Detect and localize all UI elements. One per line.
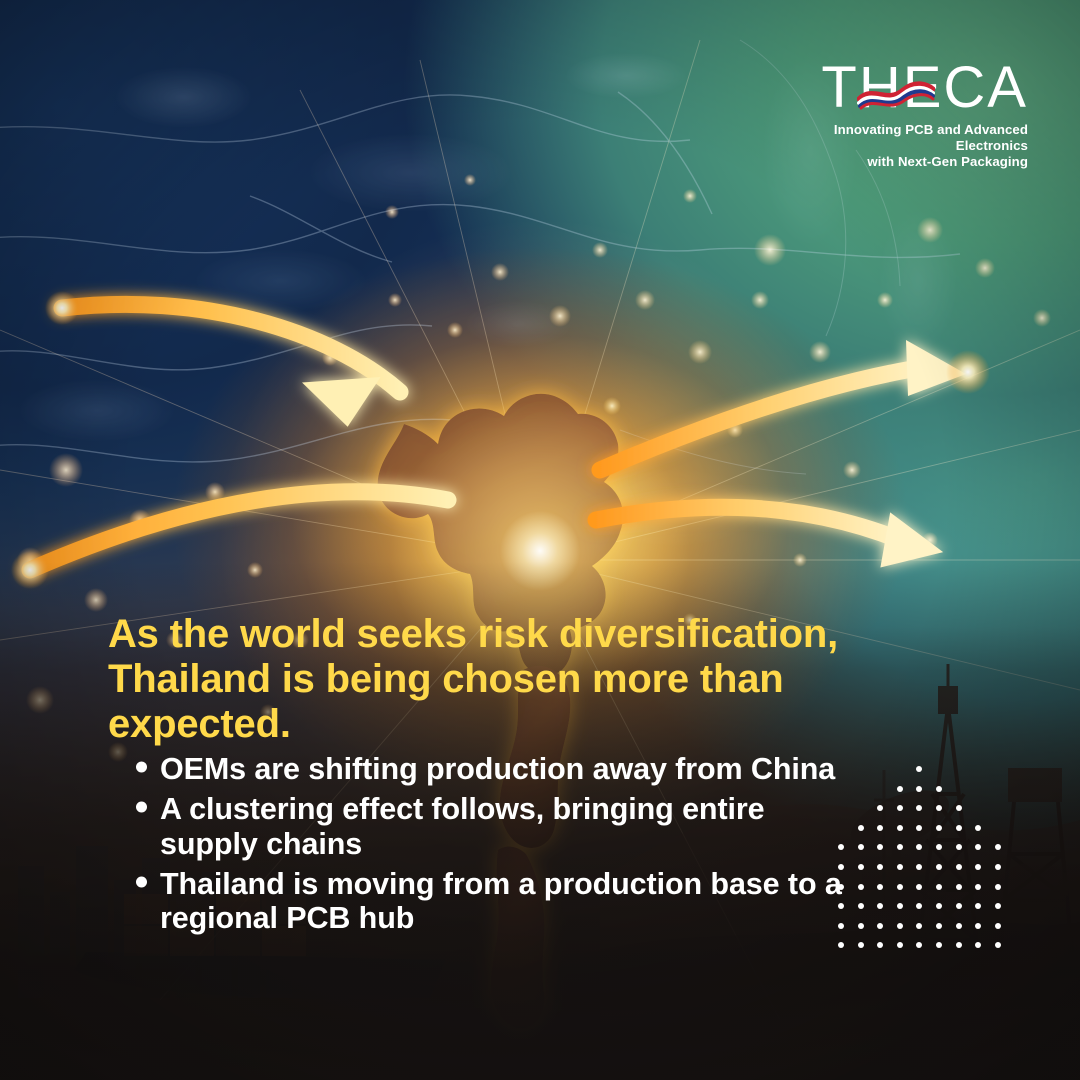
list-item: OEMs are shifting production away from C… (108, 752, 848, 787)
social-post-card: THECA Innovating PCB and Advanced Electr… (0, 0, 1080, 1080)
copy-block: As the world seeks risk diversification,… (108, 612, 848, 941)
logo-wordmark: THECA (821, 55, 1028, 120)
list-item: Thailand is moving from a production bas… (108, 867, 848, 937)
bullet-icon (136, 876, 147, 887)
decorative-dot-grid (838, 766, 1028, 956)
brand-logo[interactable]: THECA Innovating PCB and Advanced Electr… (760, 60, 1028, 170)
page-title: As the world seeks risk diversification,… (108, 612, 848, 746)
brand-tagline: Innovating PCB and Advanced Electronics … (760, 122, 1028, 170)
tagline-line-2: with Next-Gen Packaging (760, 154, 1028, 170)
key-points-list: OEMs are shifting production away from C… (108, 752, 848, 936)
tagline-line-1: Innovating PCB and Advanced Electronics (760, 122, 1028, 154)
logo-wordmark-wrap: THECA (821, 60, 1028, 116)
bullet-icon (136, 802, 147, 813)
list-item: A clustering effect follows, bringing en… (108, 792, 848, 862)
list-item-label: OEMs are shifting production away from C… (160, 752, 835, 786)
list-item-label: Thailand is moving from a production bas… (160, 867, 842, 936)
list-item-label: A clustering effect follows, bringing en… (160, 792, 765, 861)
bullet-icon (136, 762, 147, 773)
